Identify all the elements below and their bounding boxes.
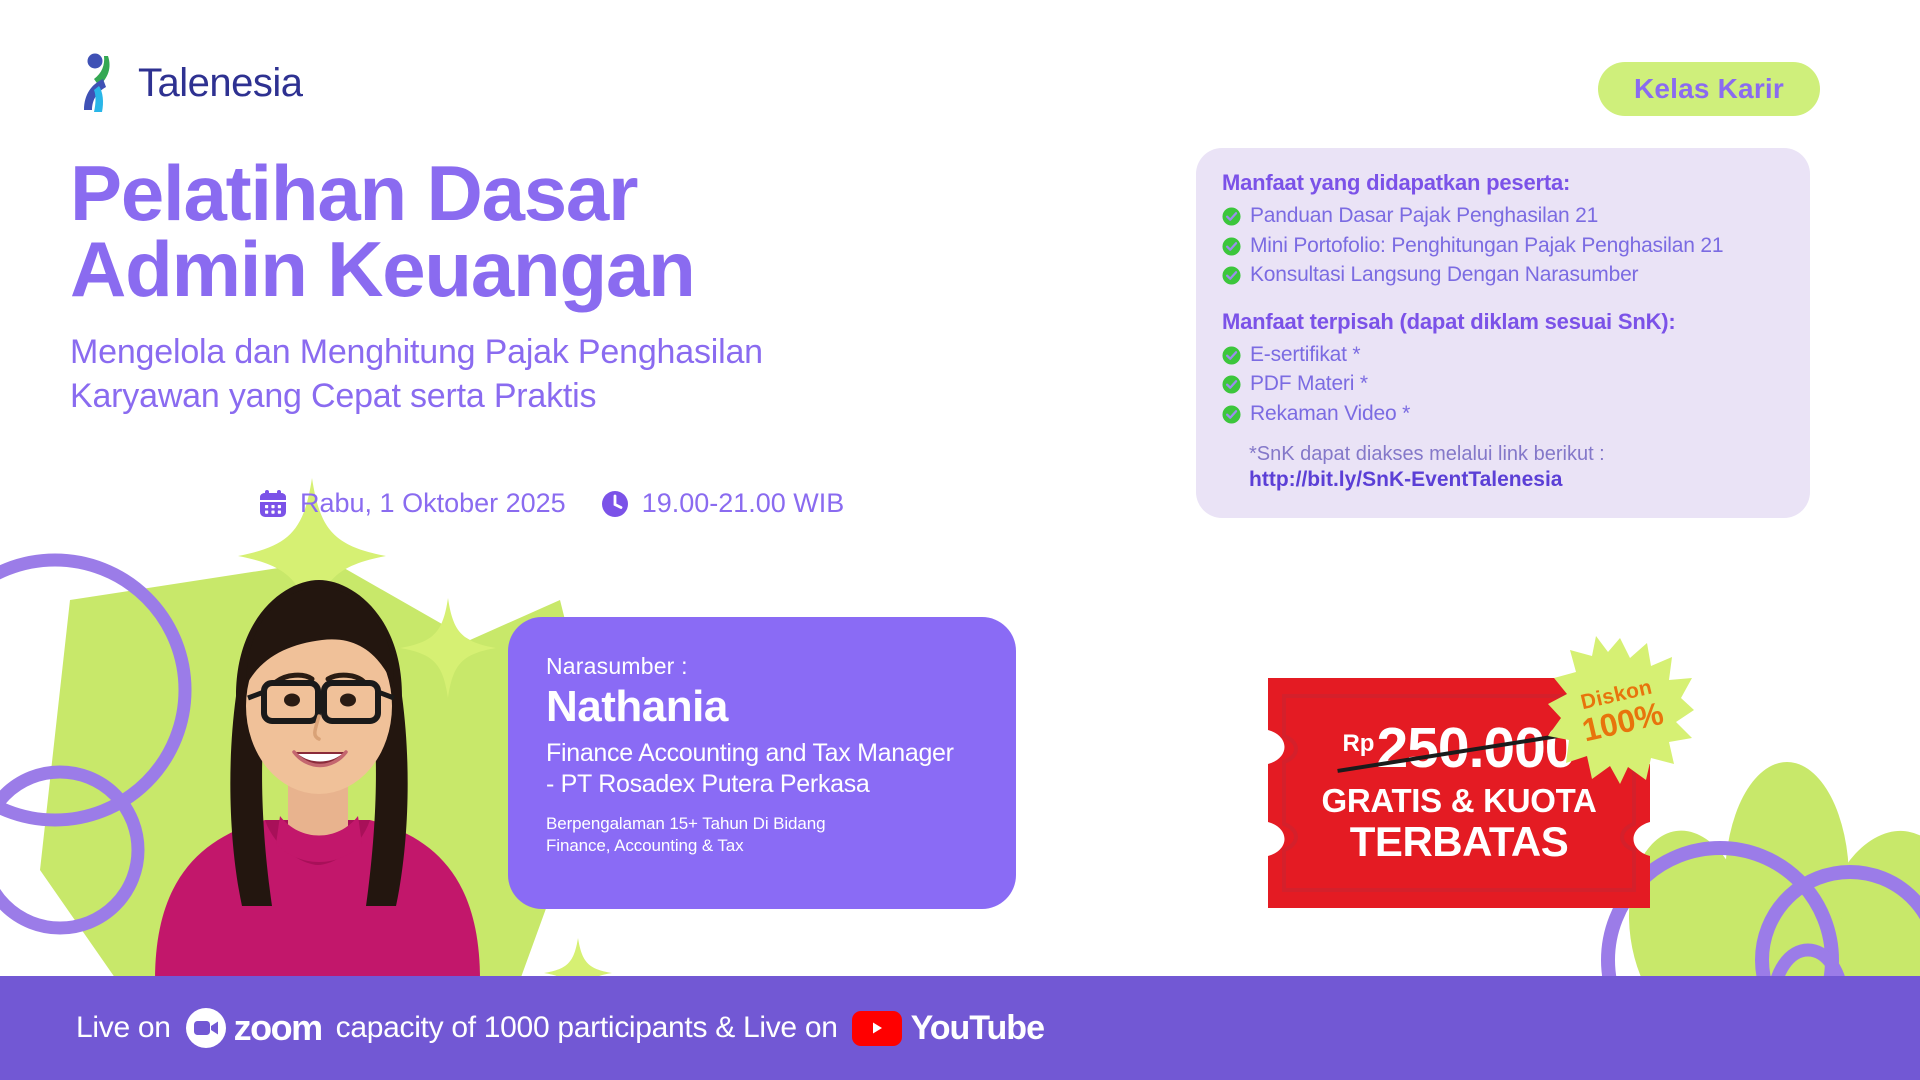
benefits-list-1: Panduan Dasar Pajak Penghasilan 21 Mini …	[1222, 204, 1784, 287]
play-triangle-icon	[868, 1019, 886, 1037]
free-label: GRATIS & KUOTA	[1321, 782, 1596, 820]
benefit-text: E-sertifikat *	[1250, 343, 1360, 367]
brand-logo-text: Talenesia	[138, 61, 303, 106]
speaker-label: Narasumber :	[546, 653, 1016, 680]
zoom-wordmark: zoom	[234, 1007, 322, 1049]
benefits-list-2: E-sertifikat * PDF Materi * Rekaman Vide…	[1222, 343, 1784, 426]
speaker-exp-line-1: Berpengalaman 15+ Tahun Di Bidang	[546, 814, 825, 833]
green-check-circle-icon	[1222, 237, 1241, 256]
list-item: PDF Materi *	[1222, 372, 1784, 396]
list-item: Mini Portofolio: Penghitungan Pajak Peng…	[1222, 234, 1784, 258]
benefits-panel: Manfaat yang didapatkan peserta: Panduan…	[1196, 148, 1810, 518]
list-item: E-sertifikat *	[1222, 343, 1784, 367]
benefit-text: Mini Portofolio: Penghitungan Pajak Peng…	[1250, 234, 1723, 258]
speaker-exp-line-2: Finance, Accounting & Tax	[546, 835, 1016, 857]
price-currency: Rp	[1342, 730, 1374, 758]
page-title: Pelatihan Dasar Admin Keuangan	[70, 155, 763, 308]
speaker-photo	[60, 520, 580, 980]
brand-logo[interactable]: Talenesia	[78, 52, 303, 114]
kelas-karir-badge[interactable]: Kelas Karir	[1598, 62, 1820, 116]
green-check-circle-icon	[1222, 405, 1241, 424]
benefits-heading-1: Manfaat yang didapatkan peserta:	[1222, 170, 1784, 196]
speaker-experience: Berpengalaman 15+ Tahun Di Bidang Financ…	[546, 813, 1016, 857]
snk-note-text: *SnK dapat diakses melalui link berikut …	[1249, 443, 1784, 466]
speaker-role: Finance Accounting and Tax Manager - PT …	[546, 738, 1016, 799]
poster-root: Talenesia Kelas Karir Pelatihan Dasar Ad…	[0, 0, 1920, 1080]
subtitle-line-2: Karyawan yang Cepat serta Praktis	[70, 374, 763, 418]
benefit-text: Konsultasi Langsung Dengan Narasumber	[1250, 263, 1638, 287]
youtube-wordmark: YouTube	[911, 1009, 1044, 1048]
speaker-card: Narasumber : Nathania Finance Accounting…	[508, 617, 1016, 909]
speaker-name: Nathania	[546, 682, 1016, 732]
green-check-circle-icon	[1222, 207, 1241, 226]
green-check-circle-icon	[1222, 266, 1241, 285]
zoom-logo[interactable]: zoom	[185, 1007, 322, 1049]
lime-petal-1	[1725, 762, 1849, 998]
title-line-2: Admin Keuangan	[70, 231, 763, 307]
limited-label: TERBATAS	[1350, 821, 1568, 863]
footer-capacity-text: capacity of 1000 participants & Live on	[336, 1011, 838, 1045]
event-date-text: Rabu, 1 Oktober 2025	[300, 488, 566, 519]
event-meta-row: Rabu, 1 Oktober 2025 19.00-21.00 WIB	[258, 488, 844, 519]
green-check-circle-icon	[1222, 375, 1241, 394]
benefits-heading-2: Manfaat terpisah (dapat diklam sesuai Sn…	[1222, 309, 1784, 335]
list-item: Panduan Dasar Pajak Penghasilan 21	[1222, 204, 1784, 228]
footer-bar: Live on zoom capacity of 1000 participan…	[0, 976, 1920, 1080]
snk-link[interactable]: http://bit.ly/SnK-EventTalenesia	[1249, 468, 1784, 492]
speaker-role-line-2: - PT Rosadex Putera Perkasa	[546, 769, 1016, 800]
benefit-text: Rekaman Video *	[1250, 402, 1410, 426]
talenesia-person-mark-icon	[78, 52, 128, 114]
title-line-1: Pelatihan Dasar	[70, 149, 637, 237]
headline-block: Pelatihan Dasar Admin Keuangan Mengelola…	[70, 155, 763, 418]
youtube-logo[interactable]: YouTube	[852, 1009, 1044, 1048]
youtube-play-icon	[852, 1011, 902, 1046]
benefit-text: Panduan Dasar Pajak Penghasilan 21	[1250, 204, 1598, 228]
green-check-circle-icon	[1222, 346, 1241, 365]
footer-content: Live on zoom capacity of 1000 participan…	[0, 1007, 1044, 1049]
speaker-portrait-illustration	[60, 520, 580, 980]
event-date: Rabu, 1 Oktober 2025	[258, 488, 566, 519]
zoom-camera-icon	[185, 1007, 227, 1049]
original-price: Rp 250.000	[1342, 720, 1575, 777]
footer-live-on: Live on	[76, 1011, 171, 1045]
benefit-text: PDF Materi *	[1250, 372, 1368, 396]
list-item: Rekaman Video *	[1222, 402, 1784, 426]
discount-starburst: Diskon 100%	[1546, 636, 1694, 784]
snk-note: *SnK dapat diakses melalui link berikut …	[1222, 443, 1784, 492]
event-time-text: 19.00-21.00 WIB	[642, 488, 845, 519]
page-subtitle: Mengelola dan Menghitung Pajak Penghasil…	[70, 330, 763, 418]
clock-icon	[600, 489, 630, 519]
speaker-role-line-1: Finance Accounting and Tax Manager	[546, 739, 954, 767]
calendar-icon	[258, 489, 288, 519]
price-ticket: Rp 250.000 GRATIS & KUOTA TERBATAS Disko…	[1268, 678, 1650, 908]
list-item: Konsultasi Langsung Dengan Narasumber	[1222, 263, 1784, 287]
subtitle-line-1: Mengelola dan Menghitung Pajak Penghasil…	[70, 333, 763, 371]
event-time: 19.00-21.00 WIB	[600, 488, 845, 519]
